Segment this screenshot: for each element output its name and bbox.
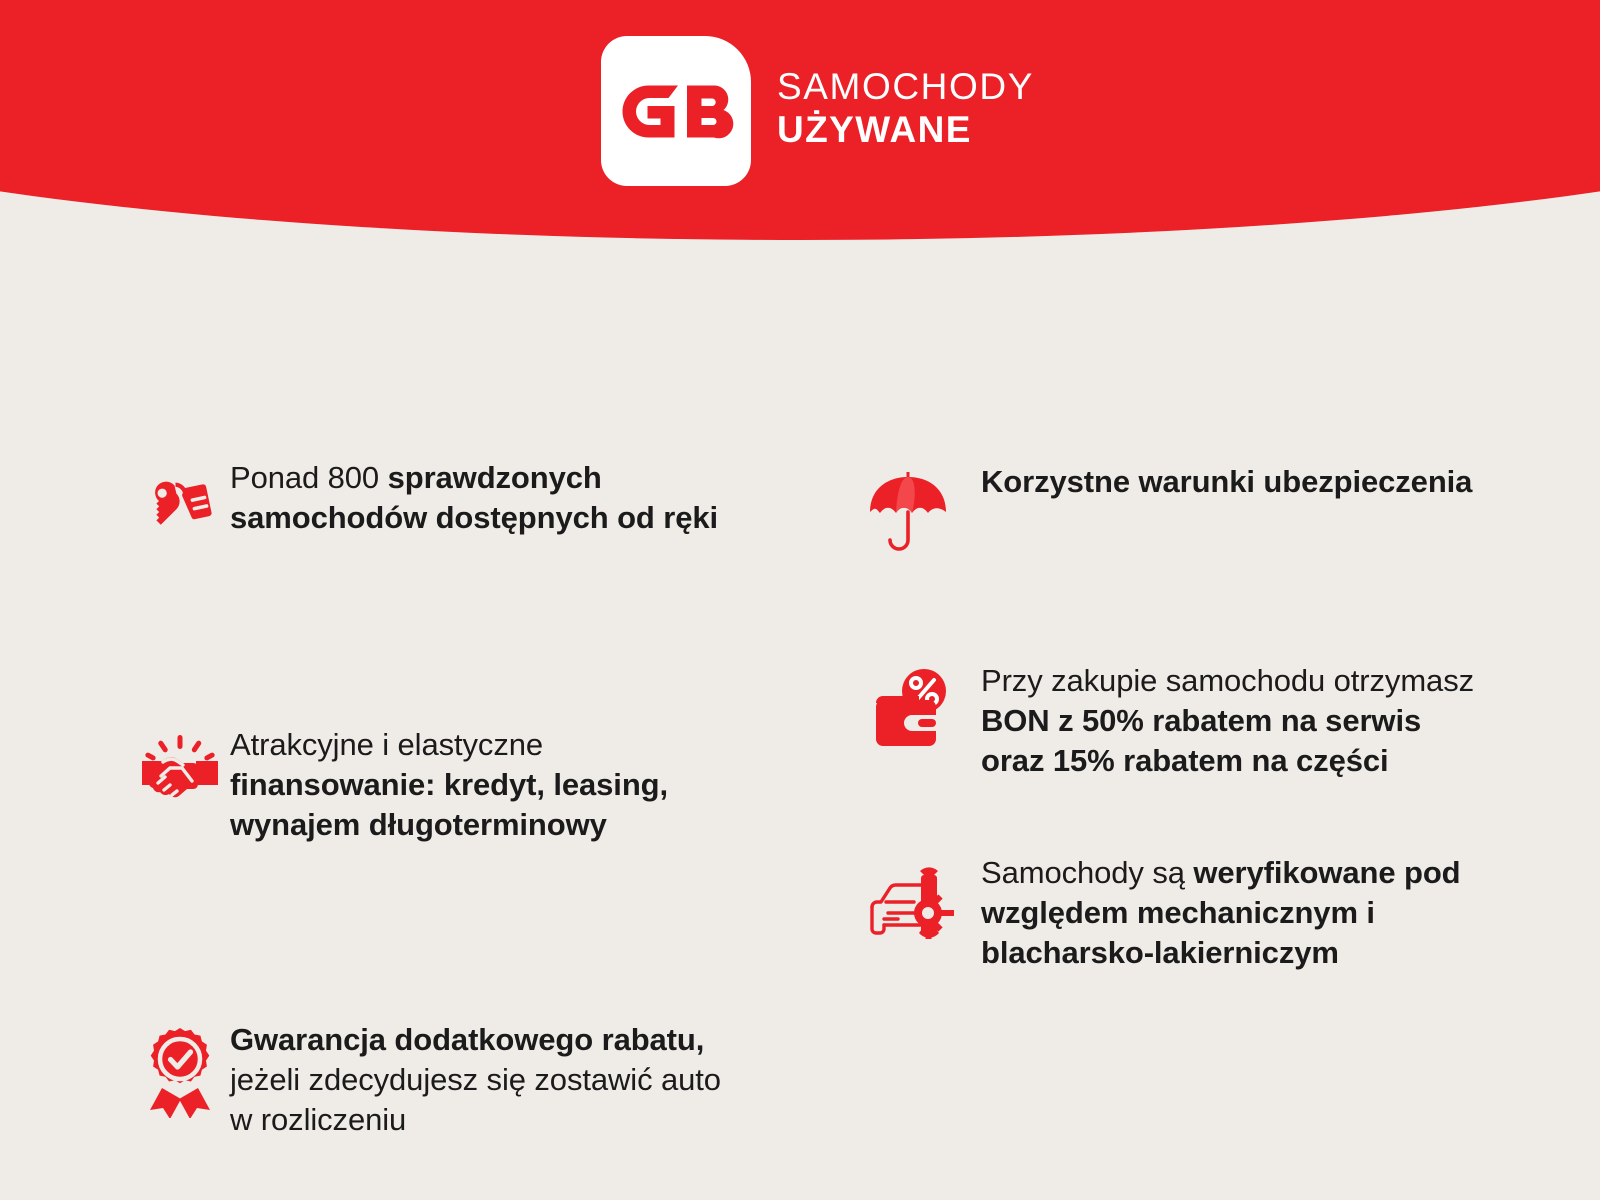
- handshake-icon: [130, 725, 230, 813]
- feature-text: Atrakcyjne i elastycznefinansowanie: kre…: [230, 725, 750, 845]
- feature-text: Ponad 800 sprawdzonych samochodów dostęp…: [230, 458, 750, 538]
- feature-text: Przy zakupie samochodu otrzymasz BON z 5…: [981, 661, 1481, 781]
- features-grid: Ponad 800 sprawdzonych samochodów dostęp…: [0, 440, 1600, 1140]
- award-rosette-check-icon: [130, 1020, 230, 1118]
- feature-text: Korzystne warunki ubezpieczenia: [981, 462, 1472, 502]
- brand-title-line2: UŻYWANE: [777, 111, 1034, 148]
- feature-text: Samochody są weryfikowane pod względem m…: [981, 853, 1481, 973]
- feature-item: Gwarancja dodatkowego rabatu,jeżeli zdec…: [130, 1020, 850, 1140]
- feature-item: Korzystne warunki ubezpieczenia: [858, 462, 1570, 556]
- feature-item: Samochody są weryfikowane pod względem m…: [858, 853, 1570, 973]
- wallet-percent-icon: [858, 661, 981, 755]
- car-wrench-gear-icon: [858, 853, 981, 947]
- features-column-right: Korzystne warunki ubezpieczenia: [850, 440, 1570, 1140]
- feature-text: Gwarancja dodatkowego rabatu,jeżeli zdec…: [230, 1020, 750, 1140]
- brand-title-line1: SAMOCHODY: [777, 68, 1034, 105]
- car-key-tag-icon: [130, 458, 230, 542]
- feature-item: Ponad 800 sprawdzonych samochodów dostęp…: [130, 458, 850, 628]
- umbrella-icon: [858, 462, 981, 556]
- gb-logo-icon: [601, 36, 751, 186]
- brand-wordmark: SAMOCHODY UŻYWANE: [777, 68, 1034, 154]
- feature-item: Atrakcyjne i elastycznefinansowanie: kre…: [130, 725, 850, 920]
- feature-item: Przy zakupie samochodu otrzymasz BON z 5…: [858, 661, 1570, 781]
- promo-page: SAMOCHODY UŻYWANE: [0, 0, 1600, 1200]
- brand-logo-lockup: SAMOCHODY UŻYWANE: [601, 36, 1034, 186]
- features-column-left: Ponad 800 sprawdzonych samochodów dostęp…: [130, 440, 850, 1140]
